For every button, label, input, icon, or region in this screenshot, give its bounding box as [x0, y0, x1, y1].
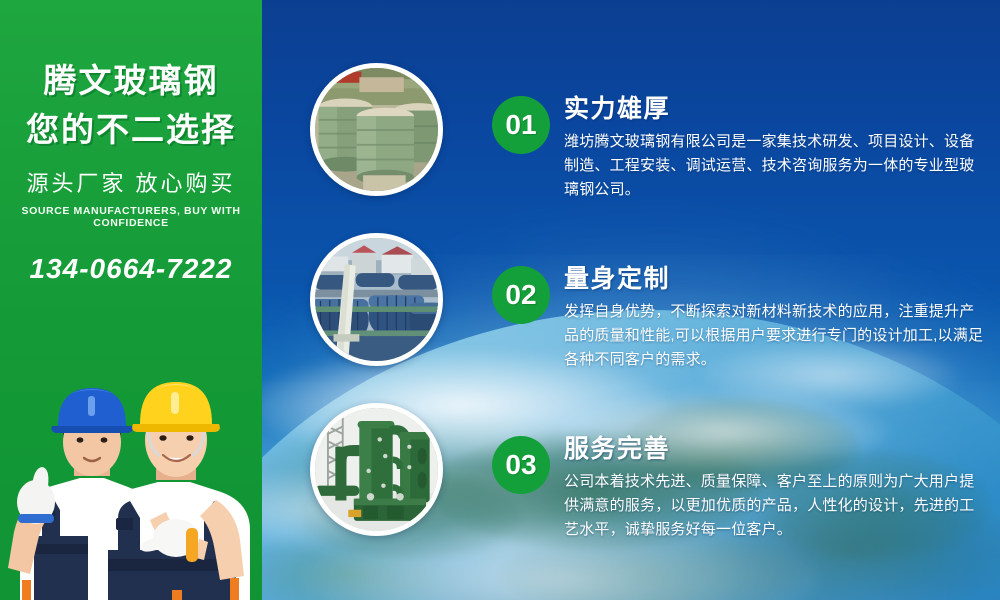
feature-text-1: 实力雄厚 潍坊腾文玻璃钢有限公司是一家集技术研发、项目设计、设备制造、工程安装、…: [564, 96, 987, 202]
feature-description-3: 公司本着技术先进、质量保障、客户至上的原则为广大用户提供满意的服务，以更加优质的…: [564, 470, 987, 543]
feature-item-3: 03 服务完善 公司本着技术先进、质量保障、客户至上的原则为广大用户提供满意的服…: [492, 436, 987, 542]
feature-title-3: 服务完善: [564, 436, 987, 464]
feature-list: 01 实力雄厚 潍坊腾文玻璃钢有限公司是一家集技术研发、项目设计、设备制造、工程…: [0, 0, 1000, 600]
feature-item-2: 02 量身定制 发挥自身优势，不断探索对新材料新技术的应用，注重提升产品的质量和…: [492, 266, 987, 372]
feature-title-1: 实力雄厚: [564, 96, 987, 124]
promotional-banner: 腾文玻璃钢 您的不二选择 源头厂家 放心购买 SOURCE MANUFACTUR…: [0, 0, 1000, 600]
feature-text-3: 服务完善 公司本着技术先进、质量保障、客户至上的原则为广大用户提供满意的服务，以…: [564, 436, 987, 542]
feature-number-badge-01: 01: [492, 96, 550, 154]
feature-title-2: 量身定制: [564, 266, 987, 294]
feature-description-1: 潍坊腾文玻璃钢有限公司是一家集技术研发、项目设计、设备制造、工程安装、调试运营、…: [564, 130, 987, 203]
feature-text-2: 量身定制 发挥自身优势，不断探索对新材料新技术的应用，注重提升产品的质量和性能,…: [564, 266, 987, 372]
feature-description-2: 发挥自身优势，不断探索对新材料新技术的应用，注重提升产品的质量和性能,可以根据用…: [564, 300, 987, 373]
feature-item-1: 01 实力雄厚 潍坊腾文玻璃钢有限公司是一家集技术研发、项目设计、设备制造、工程…: [492, 96, 987, 202]
feature-number-badge-02: 02: [492, 266, 550, 324]
feature-number-badge-03: 03: [492, 436, 550, 494]
